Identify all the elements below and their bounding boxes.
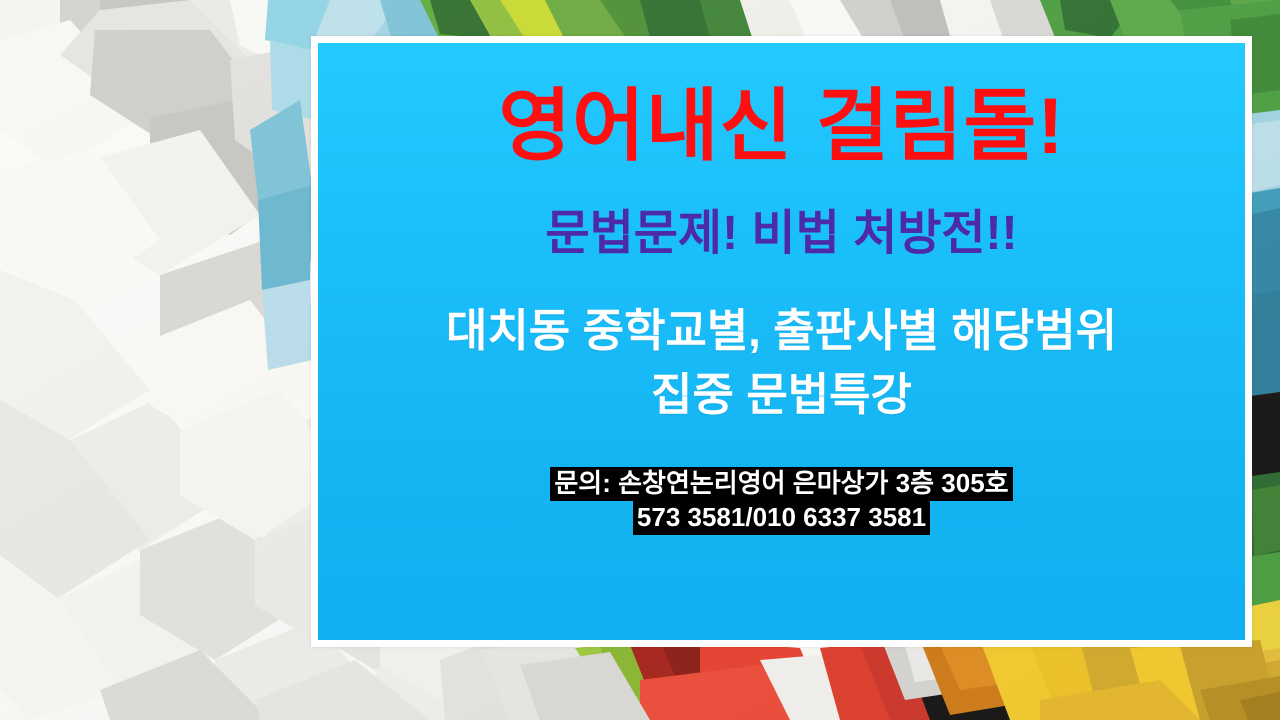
presentation-slide: 영어내신 걸림돌! 문법문제! 비법 처방전!! 대치동 중학교별, 출판사별 … xyxy=(0,0,1280,720)
content-panel: 영어내신 걸림돌! 문법문제! 비법 처방전!! 대치동 중학교별, 출판사별 … xyxy=(318,43,1245,640)
contact-address: 문의: 손창연논리영어 은마상가 3층 305호 xyxy=(550,467,1012,501)
contact-row-2: 573 3581/010 6337 3581 xyxy=(318,501,1245,535)
slide-subheadline: 문법문제! 비법 처방전!! xyxy=(545,208,1017,261)
slide-headline: 영어내신 걸림돌! xyxy=(498,85,1064,168)
slide-body: 대치동 중학교별, 출판사별 해당범위 집중 문법특강 xyxy=(318,299,1245,427)
contact-info: 문의: 손창연논리영어 은마상가 3층 305호 573 3581/010 63… xyxy=(318,467,1245,535)
contact-row-1: 문의: 손창연논리영어 은마상가 3층 305호 xyxy=(318,467,1245,501)
body-line-2: 집중 문법특강 xyxy=(318,363,1245,427)
body-line-1: 대치동 중학교별, 출판사별 해당범위 xyxy=(318,299,1245,363)
contact-phone: 573 3581/010 6337 3581 xyxy=(633,501,930,535)
